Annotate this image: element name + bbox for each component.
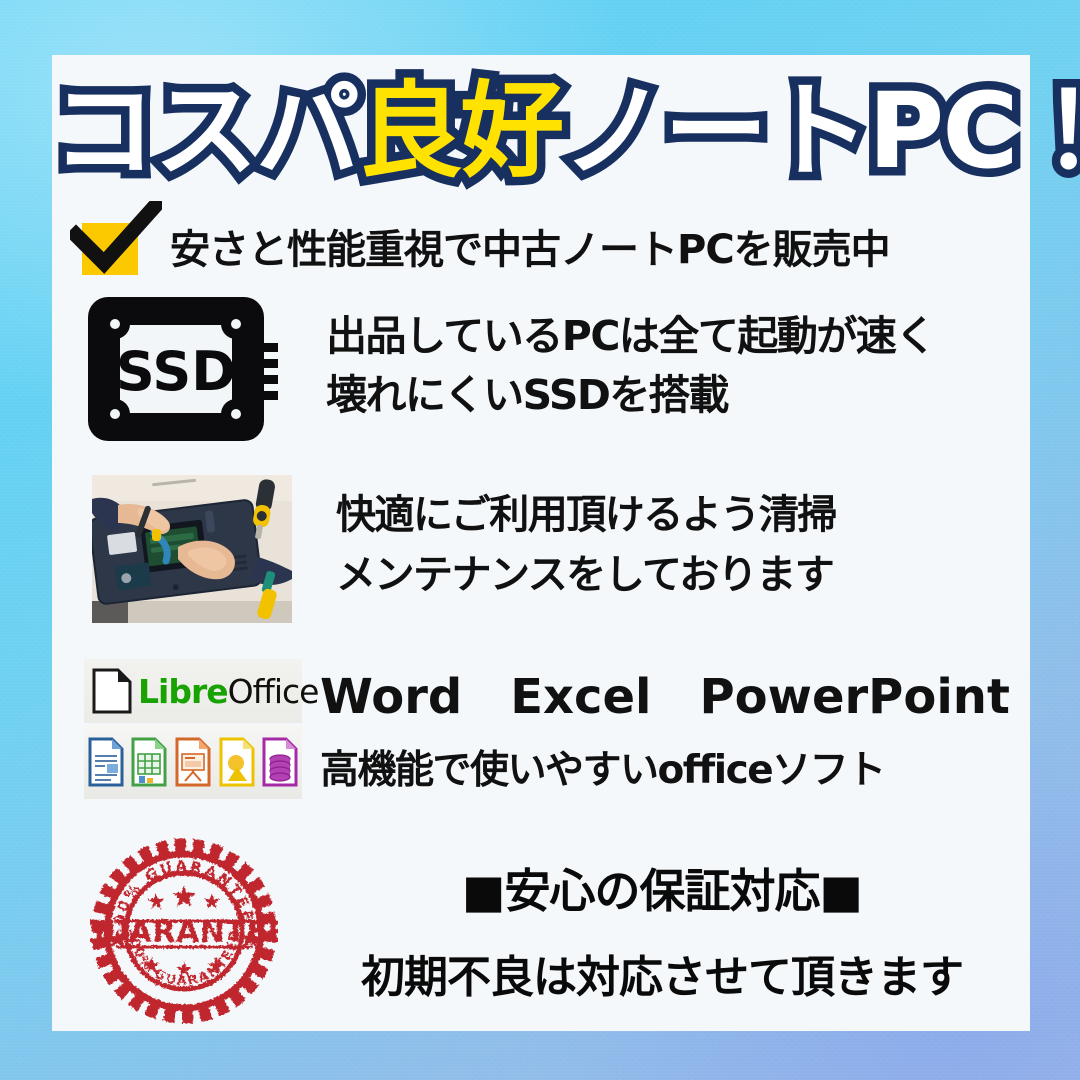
maintenance-line-1: 快適にご利用頂けるよう清掃 [336,485,836,545]
laptop-repair-photo [92,475,292,623]
guarantee-line-1: ■安心の保証対応■ [312,855,1012,921]
svg-text:100% GUARANTEED: 100% GUARANTEED [90,837,258,927]
office-suites-line: Word Excel PowerPoint [320,657,1010,727]
libreoffice-wordmark-libre: Libre [138,672,228,711]
guarantee-text-block: ■安心の保証対応■ 初期不良は対応させて頂きます [312,855,1012,1005]
ssd-icon-label: SSD [116,340,236,403]
libreoffice-wordmark-office: Office [228,672,319,711]
libreoffice-logo: LibreOffice [84,659,302,723]
title-part-1: コスパ [52,70,358,192]
title-part-2: ノートPC！ [562,70,1080,192]
page-title: コスパ良好ノートPC！ [52,75,1030,187]
feature-text-ssd: 出品しているPCは全て起動が速く 壊れにくいSSDを搭載 [326,307,935,426]
calc-icon [131,737,167,787]
feature-text-pricing: 安さと性能重視で中古ノートPCを販売中 [170,217,890,275]
stamp-arc-top: 100% GUARANTEED [90,837,258,927]
libreoffice-app-icons [84,725,302,799]
ssd-line-1: 出品しているPCは全て起動が速く [326,307,935,366]
office-caption: 高機能で使いやすいofficeソフト [320,739,1010,795]
libreoffice-wordmark: LibreOffice [138,672,318,711]
content-card: コスパ良好ノートPC！ 安さと性能重視で中古ノートPCを販売中 [52,55,1030,1031]
guarantee-line-2: 初期不良は対応させて頂きます [312,941,1012,1005]
draw-icon [219,737,255,787]
check-mark-icon [70,201,162,277]
writer-icon [88,737,124,787]
office-text-block: Word Excel PowerPoint 高機能で使いやすいofficeソフト [320,657,1010,795]
feature-text-maintenance: 快適にご利用頂けるよう清掃 メンテナンスをしております [336,485,836,605]
poster-canvas: コスパ良好ノートPC！ 安さと性能重視で中古ノートPCを販売中 [0,0,1080,1080]
base-icon [262,737,298,787]
maintenance-line-2: メンテナンスをしております [336,545,836,605]
feature-row-pricing: 安さと性能重視で中古ノートPCを販売中 [74,211,1024,281]
title-highlight: 良好 [358,70,562,192]
libreoffice-document-icon [92,668,132,714]
ssd-drive-icon: SSD [84,291,280,447]
guarantee-stamp-icon: 100% GUARANTEED 100% GUARANTEED [90,837,278,1025]
impress-icon [175,737,211,787]
ssd-line-2: 壊れにくいSSDを搭載 [326,366,935,425]
